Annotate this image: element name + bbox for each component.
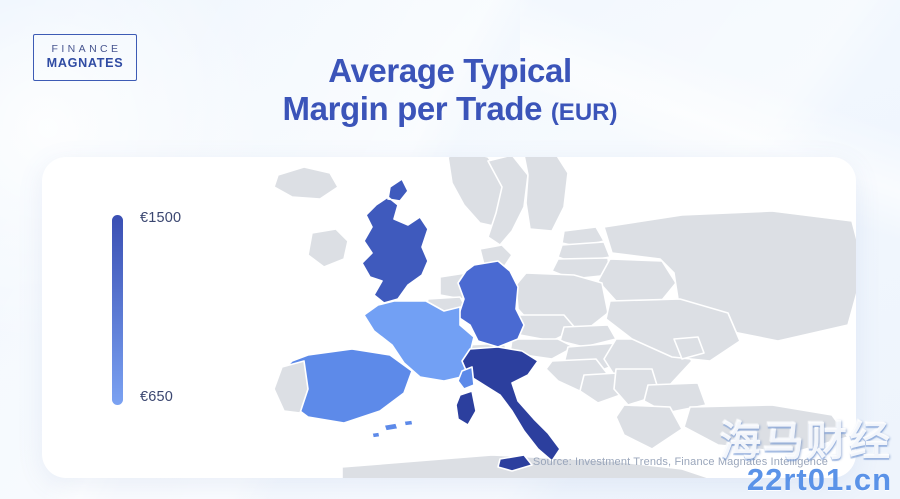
color-scale-max-label: €1500 (140, 210, 181, 226)
country-ireland (308, 229, 348, 267)
chart-title-line-2-text: Margin per Trade (283, 90, 551, 127)
country-italy[interactable] (462, 347, 560, 461)
chart-title-line-2: Margin per Trade (EUR) (0, 90, 900, 128)
map-background-countries (274, 157, 856, 478)
europe-choropleth-map (212, 157, 856, 478)
country-turkey (684, 405, 848, 453)
chart-title-line-1: Average Typical (0, 52, 900, 90)
chart-title: Average Typical Margin per Trade (EUR) (0, 52, 900, 129)
country-italy-sardinia[interactable] (456, 391, 476, 425)
color-scale-gradient-bar (112, 215, 123, 405)
country-belarus (598, 259, 676, 305)
country-portugal (274, 361, 308, 413)
infographic-canvas: FINANCE MAGNATES Average Typical Margin … (0, 0, 900, 499)
country-greece (616, 405, 682, 449)
color-scale-min-label: €650 (140, 389, 173, 405)
source-caption: Source: Investment Trends, Finance Magna… (42, 456, 828, 468)
country-united-kingdom[interactable] (362, 179, 428, 303)
country-balearic-islands (372, 420, 413, 438)
country-finland (524, 157, 568, 231)
country-iceland (274, 167, 338, 199)
chart-card: €1500 €650 (42, 157, 856, 478)
chart-title-unit: (EUR) (551, 99, 618, 126)
